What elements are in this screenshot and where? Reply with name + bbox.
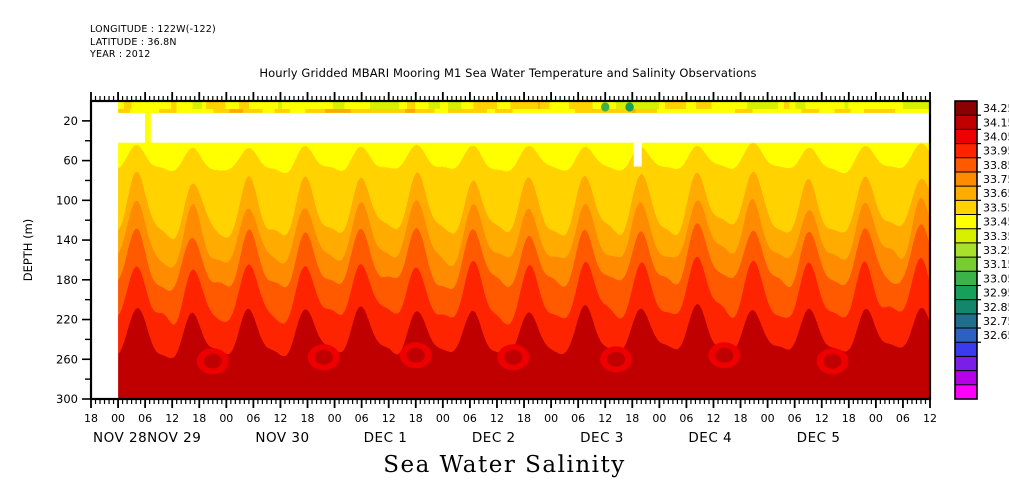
x-hour-label-0: 18 — [84, 412, 98, 425]
colorbar-swatch — [955, 371, 977, 386]
colorbar-swatch — [955, 129, 977, 144]
colorbar-swatch — [955, 158, 977, 173]
colorbar-label-33.25: 33.25 — [983, 244, 1009, 257]
y-tick-label-100: 100 — [56, 193, 78, 207]
colorbar-swatch — [955, 342, 977, 357]
y-tick-label-260: 260 — [56, 352, 78, 366]
colorbar-label-32.65: 32.65 — [983, 329, 1009, 342]
x-hour-label-31: 12 — [923, 412, 937, 425]
surface-band-cell-lower — [934, 109, 937, 113]
x-hour-label-16: 18 — [517, 412, 531, 425]
chart-subtitle: Sea Water Salinity — [0, 452, 1009, 478]
surface-band-cell — [934, 101, 937, 113]
x-hour-label-20: 18 — [625, 412, 639, 425]
surface-band-cell-lower — [932, 109, 935, 113]
surface-connector — [145, 109, 151, 143]
surface-band-cell-lower — [936, 109, 939, 113]
deep-core — [407, 348, 425, 363]
y-tick-label-300: 300 — [56, 392, 78, 406]
colorbar-swatch — [955, 243, 977, 258]
x-day-label-5: DEC 3 — [580, 430, 624, 446]
colorbar-swatch — [955, 271, 977, 286]
x-hour-label-19: 12 — [598, 412, 612, 425]
x-hour-label-21: 00 — [652, 412, 666, 425]
deep-core — [204, 354, 222, 369]
y-tick-label-20: 20 — [63, 114, 78, 128]
x-hour-label-12: 18 — [409, 412, 423, 425]
colorbar-label-33.95: 33.95 — [983, 145, 1009, 158]
x-day-label-1: NOV 29 — [147, 430, 201, 446]
x-hour-label-17: 00 — [544, 412, 558, 425]
colorbar-swatch — [955, 300, 977, 315]
colorbar-label-32.75: 32.75 — [983, 315, 1009, 328]
colorbar-swatch — [955, 385, 977, 400]
colorbar — [955, 101, 981, 399]
x-hour-label-14: 06 — [463, 412, 477, 425]
colorbar-label-34.15: 34.15 — [983, 116, 1009, 129]
x-day-label-6: DEC 4 — [688, 430, 732, 446]
colorbar-label-33.05: 33.05 — [983, 272, 1009, 285]
y-tick-label-220: 220 — [56, 313, 78, 327]
x-day-label-2: NOV 30 — [255, 430, 309, 446]
x-hour-label-10: 06 — [355, 412, 369, 425]
colorbar-label-32.85: 32.85 — [983, 301, 1009, 314]
colorbar-swatch — [955, 257, 977, 272]
x-hour-label-7: 12 — [273, 412, 287, 425]
salinity-contour-figure: 2060100140180220260300DEPTH (m)180006121… — [0, 0, 1009, 504]
x-hour-label-23: 12 — [706, 412, 720, 425]
colorbar-label-32.95: 32.95 — [983, 287, 1009, 300]
fresh-surface-patch — [625, 102, 633, 111]
colorbar-label-33.65: 33.65 — [983, 187, 1009, 200]
colorbar-swatch — [955, 115, 977, 130]
x-hour-label-9: 00 — [328, 412, 342, 425]
x-hour-label-8: 18 — [301, 412, 315, 425]
x-hour-label-18: 06 — [571, 412, 585, 425]
x-hour-label-28: 18 — [842, 412, 856, 425]
colorbar-swatch — [955, 285, 977, 300]
x-hour-label-15: 12 — [490, 412, 504, 425]
x-hour-label-25: 00 — [761, 412, 775, 425]
x-hour-label-11: 12 — [382, 412, 396, 425]
x-hour-label-27: 12 — [815, 412, 829, 425]
y-tick-label-180: 180 — [56, 273, 78, 287]
x-day-label-0: NOV 28 — [93, 430, 147, 446]
deep-core — [824, 354, 842, 369]
deep-core — [715, 348, 733, 363]
x-hour-label-29: 00 — [869, 412, 883, 425]
x-hour-label-4: 18 — [192, 412, 206, 425]
colorbar-swatch — [955, 215, 977, 230]
x-hour-label-6: 06 — [246, 412, 260, 425]
x-day-label-7: DEC 5 — [797, 430, 841, 446]
colorbar-swatch — [955, 101, 977, 116]
deep-core — [504, 350, 522, 365]
colorbar-label-33.35: 33.35 — [983, 230, 1009, 243]
x-hour-label-2: 06 — [138, 412, 152, 425]
surface-band-cell — [936, 101, 939, 113]
colorbar-label-33.45: 33.45 — [983, 216, 1009, 229]
colorbar-label-33.85: 33.85 — [983, 159, 1009, 172]
colorbar-swatch — [955, 186, 977, 201]
data-gap-right — [151, 113, 930, 143]
x-day-label-3: DEC 1 — [364, 430, 408, 446]
no-data-left-margin — [91, 101, 118, 399]
colorbar-swatch — [955, 229, 977, 244]
y-axis-title: DEPTH (m) — [21, 219, 35, 282]
colorbar-swatch — [955, 328, 977, 343]
x-hour-label-1: 00 — [111, 412, 125, 425]
colorbar-label-33.15: 33.15 — [983, 258, 1009, 271]
colorbar-swatch — [955, 200, 977, 215]
x-hour-label-13: 00 — [436, 412, 450, 425]
colorbar-swatch — [955, 314, 977, 329]
contour-field — [118, 143, 938, 399]
x-hour-label-30: 06 — [896, 412, 910, 425]
missing-notch — [634, 143, 642, 167]
colorbar-swatch — [955, 144, 977, 159]
colorbar-label-33.75: 33.75 — [983, 173, 1009, 186]
y-tick-label-60: 60 — [63, 154, 78, 168]
colorbar-swatch — [955, 356, 977, 371]
colorbar-label-34.05: 34.05 — [983, 130, 1009, 143]
x-hour-label-22: 06 — [679, 412, 693, 425]
deep-core — [607, 352, 625, 367]
x-hour-label-26: 06 — [788, 412, 802, 425]
x-hour-label-3: 12 — [165, 412, 179, 425]
x-hour-label-5: 00 — [219, 412, 233, 425]
x-hour-label-24: 18 — [734, 412, 748, 425]
colorbar-label-33.55: 33.55 — [983, 201, 1009, 214]
fresh-surface-patch — [601, 102, 609, 111]
surface-band-cell — [932, 101, 935, 113]
x-day-label-4: DEC 2 — [472, 430, 516, 446]
colorbar-label-34.25: 34.25 — [983, 102, 1009, 115]
colorbar-swatch — [955, 172, 977, 187]
y-tick-label-140: 140 — [56, 233, 78, 247]
deep-core — [315, 350, 333, 365]
